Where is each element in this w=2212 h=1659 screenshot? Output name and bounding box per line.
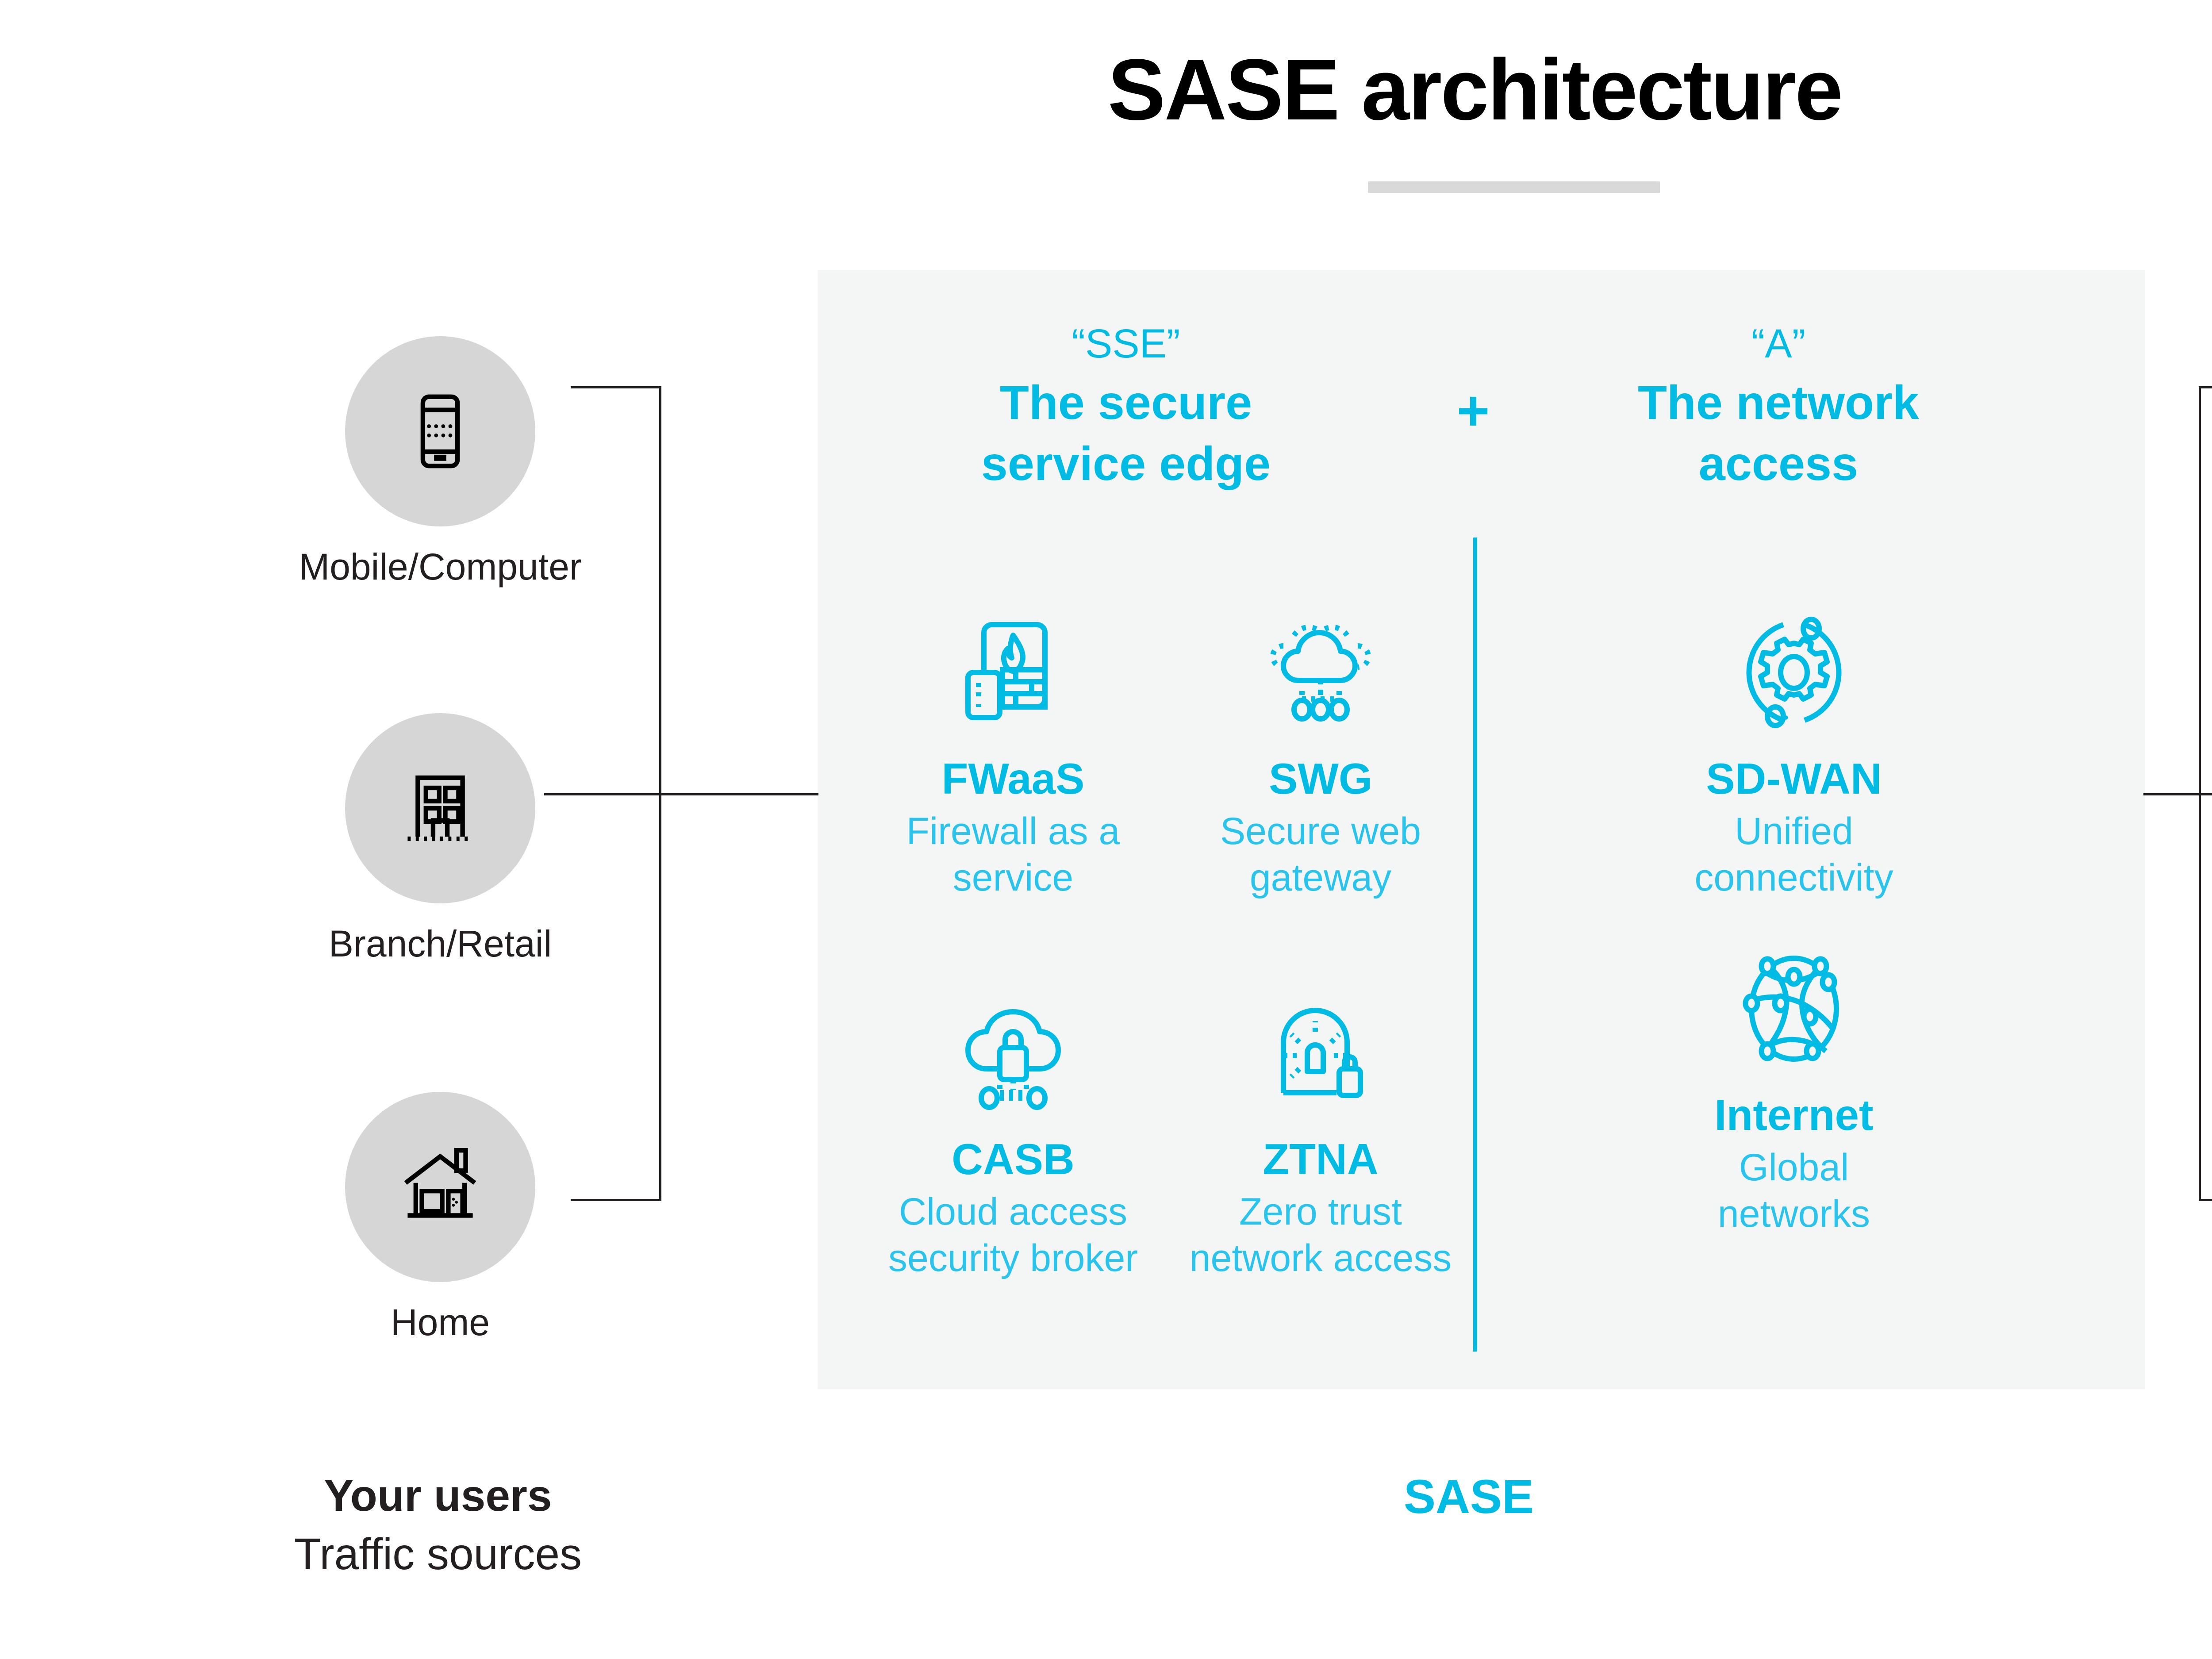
source-label-mobile: Mobile/Computer <box>241 544 639 589</box>
avatar-bubble <box>345 1092 535 1282</box>
access-column-header: “A” The network access <box>1535 319 2022 494</box>
sse-title-line2: service edge <box>883 433 1369 494</box>
plus-operator: + <box>1409 378 1537 443</box>
ztna-abbr: ZTNA <box>1099 1136 1542 1183</box>
access-title-line2: access <box>1535 433 2022 494</box>
internet-desc-line1: Global <box>1573 1144 2015 1191</box>
page-title: SASE architecture <box>0 40 2212 139</box>
ztna-desc-line2: network access <box>1099 1235 1542 1282</box>
connector-mobile-stub <box>571 386 661 388</box>
swg-abbr: SWG <box>1099 755 1542 803</box>
service-internet[interactable]: Internet Global networks <box>1573 936 2015 1237</box>
access-kicker: “A” <box>1535 319 2022 369</box>
internet-abbr: Internet <box>1573 1091 2015 1139</box>
footer-sase-label: SASE <box>1093 1469 1845 1524</box>
source-node-branch[interactable]: Branch/Retail <box>241 713 639 966</box>
connector-right-bus <box>2199 386 2201 1201</box>
internet-desc-line2: networks <box>1573 1191 2015 1237</box>
footer-right-subtitle: Traffic destinations <box>2137 1527 2212 1581</box>
avatar-bubble <box>345 336 535 526</box>
sdwan-desc-line1: Unified <box>1573 808 2015 855</box>
footer-left-title: Your users <box>62 1469 814 1523</box>
access-title-line1: The network <box>1535 372 2022 433</box>
swg-desc-line1: Secure web <box>1099 808 1542 855</box>
swg-desc-line2: gateway <box>1099 855 1542 901</box>
ztna-desc-line1: Zero trust <box>1099 1189 1542 1235</box>
sdwan-desc-line2: connectivity <box>1573 855 2015 901</box>
title-divider-rule <box>1368 181 1660 193</box>
footer-sources: Your users Traffic sources <box>62 1469 814 1581</box>
footer-destinations: Your data Traffic destinations <box>2137 1469 2212 1581</box>
sdwan-abbr: SD-WAN <box>1573 755 2015 803</box>
cloud-dotted-nodes-icon <box>1099 599 1542 745</box>
connector-saas-stub <box>2143 793 2212 795</box>
source-label-branch: Branch/Retail <box>241 921 639 966</box>
sse-kicker: “SSE” <box>883 319 1369 369</box>
source-node-mobile[interactable]: Mobile/Computer <box>241 336 639 589</box>
footer-left-subtitle: Traffic sources <box>62 1527 814 1581</box>
service-sdwan[interactable]: SD-WAN Unified connectivity <box>1573 599 2015 901</box>
sse-column-header: “SSE” The secure service edge <box>883 319 1369 494</box>
connector-cloud-stub <box>2200 1199 2212 1201</box>
avatar-bubble <box>345 713 535 903</box>
connector-hq-stub <box>2200 386 2212 388</box>
footer-right-title: Your data <box>2137 1469 2212 1523</box>
globe-network-icon <box>1573 936 2015 1082</box>
service-ztna[interactable]: ZTNA Zero trust network access <box>1099 980 1542 1282</box>
connector-home-stub <box>571 1199 661 1201</box>
connector-left-bus <box>659 386 661 1201</box>
sse-title-line1: The secure <box>883 372 1369 433</box>
connector-branch-stub <box>544 793 818 795</box>
shield-keyhole-padlock-icon <box>1099 980 1542 1126</box>
source-label-home: Home <box>241 1300 639 1345</box>
service-swg[interactable]: SWG Secure web gateway <box>1099 599 1542 901</box>
source-node-home[interactable]: Home <box>241 1092 639 1345</box>
gear-orbit-icon <box>1573 599 2015 745</box>
